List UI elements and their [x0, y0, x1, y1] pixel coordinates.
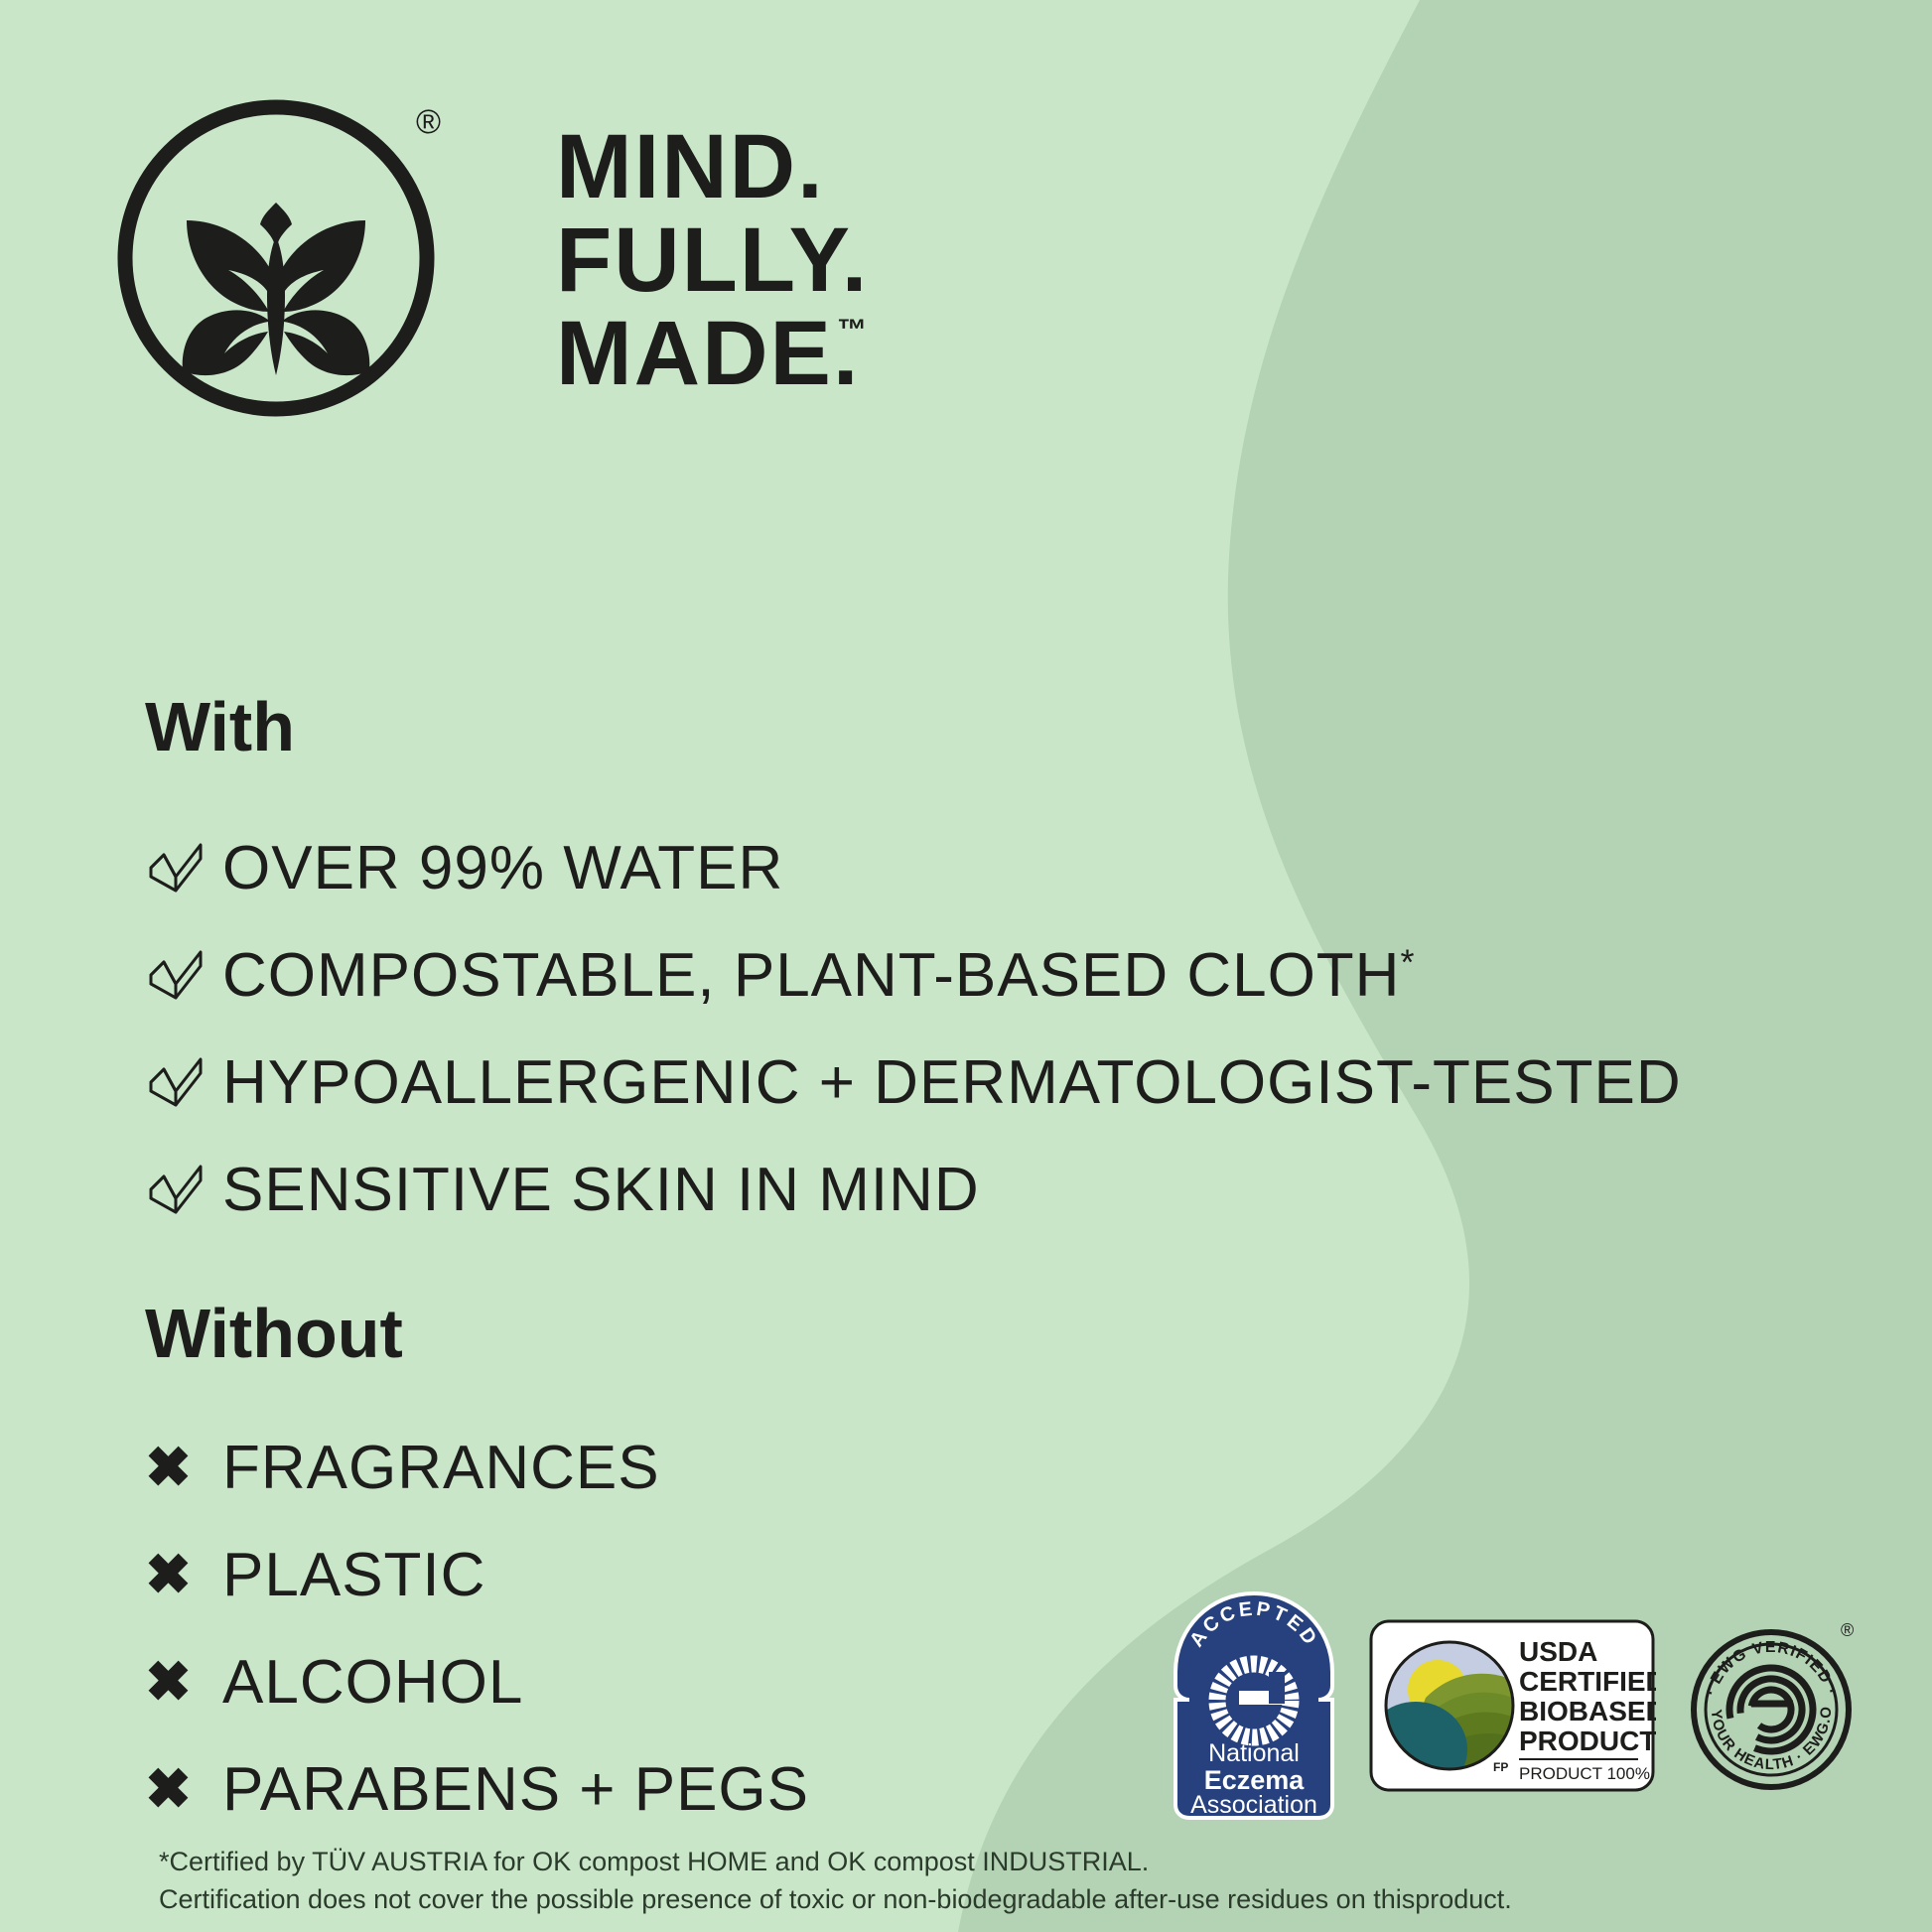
claim-text: PARABENS + PEGS — [222, 1754, 809, 1825]
check-mark-icon — [145, 1051, 222, 1113]
claim-text: COMPOSTABLE, PLANT-BASED CLOTH* — [222, 940, 1415, 1011]
claim-text: FRAGRANCES — [222, 1433, 660, 1503]
list-item: ✖ ALCOHOL — [145, 1628, 809, 1735]
without-section-heading: Without — [145, 1294, 403, 1373]
wordmark-line-2: FULLY. — [556, 214, 869, 308]
x-mark-glyph: ✖ — [145, 1654, 192, 1710]
list-item: HYPOALLERGENIC + DERMATOLOGIST-TESTED — [145, 1029, 1682, 1136]
butterfly-in-circle-logo: ® — [111, 85, 457, 431]
list-item: COMPOSTABLE, PLANT-BASED CLOTH* — [145, 921, 1682, 1029]
certification-badge-strip: ACCEPTED National Eczema Association — [1170, 1590, 1861, 1821]
svg-text:CERTIFIED: CERTIFIED — [1519, 1666, 1656, 1697]
with-claims-list: OVER 99% WATER COMPOSTABLE, PLANT-BASED … — [145, 814, 1682, 1243]
list-item: ✖ FRAGRANCES — [145, 1414, 809, 1521]
footnote-marker: * — [1400, 941, 1415, 982]
svg-text:National: National — [1208, 1739, 1300, 1767]
x-mark-glyph: ✖ — [145, 1440, 192, 1495]
svg-text:Association: Association — [1190, 1791, 1317, 1819]
ewg-verified-badge: · EWG VERIFIED · FOR YOUR HEALTH · EWG.O… — [1686, 1618, 1861, 1793]
svg-text:BIOBASED: BIOBASED — [1519, 1696, 1656, 1726]
trademark-icon: ™ — [837, 316, 867, 345]
footnote-line-1: *Certified by TÜV AUSTRIA for OK compost… — [159, 1843, 1767, 1880]
x-mark-glyph: ✖ — [145, 1547, 192, 1602]
wordmark: MIND. FULLY. MADE. ™ — [556, 121, 869, 400]
list-item: ✖ PLASTIC — [145, 1521, 809, 1628]
footnote-line-2: Certification does not cover the possibl… — [159, 1880, 1767, 1918]
wordmark-line-3: MADE. — [556, 308, 869, 401]
marketing-graphic-canvas: ® MIND. FULLY. MADE. ™ With OVER 99% WAT… — [0, 0, 1932, 1932]
claim-text: ALCOHOL — [222, 1647, 523, 1718]
list-item: SENSITIVE SKIN IN MIND — [145, 1136, 1682, 1243]
svg-text:®: ® — [1841, 1620, 1854, 1640]
without-claims-list: ✖ FRAGRANCES ✖ PLASTIC ✖ ALCOHOL ✖ PARAB… — [145, 1414, 809, 1843]
usda-certified-biobased-product-badge: FP USDA CERTIFIED BIOBASED PRODUCT PRODU… — [1368, 1618, 1656, 1793]
x-mark-icon: ✖ — [145, 1761, 222, 1817]
svg-text:FP: FP — [1493, 1760, 1508, 1774]
check-mark-icon — [145, 944, 222, 1006]
claim-text: PLASTIC — [222, 1540, 485, 1610]
wordmark-line-1: MIND. — [556, 121, 869, 214]
svg-text:PRODUCT 100%: PRODUCT 100% — [1519, 1764, 1650, 1783]
check-mark-icon — [145, 837, 222, 898]
list-item: OVER 99% WATER — [145, 814, 1682, 921]
x-mark-icon: ✖ — [145, 1654, 222, 1710]
footnote-block: *Certified by TÜV AUSTRIA for OK compost… — [159, 1843, 1767, 1919]
list-item: ✖ PARABENS + PEGS — [145, 1735, 809, 1843]
registered-trademark-icon: ® — [416, 105, 441, 139]
x-mark-icon: ✖ — [145, 1547, 222, 1602]
claim-text: SENSITIVE SKIN IN MIND — [222, 1155, 980, 1225]
national-eczema-association-badge: ACCEPTED National Eczema Association — [1170, 1590, 1338, 1821]
with-section-heading: With — [145, 687, 295, 766]
check-mark-icon — [145, 1159, 222, 1220]
claim-text: HYPOALLERGENIC + DERMATOLOGIST-TESTED — [222, 1047, 1682, 1118]
svg-text:USDA: USDA — [1519, 1636, 1597, 1667]
x-mark-icon: ✖ — [145, 1440, 222, 1495]
claim-text: OVER 99% WATER — [222, 833, 783, 903]
brand-logo-lockup: ® MIND. FULLY. MADE. ™ — [111, 85, 869, 431]
x-mark-glyph: ✖ — [145, 1761, 192, 1817]
svg-text:PRODUCT: PRODUCT — [1519, 1725, 1656, 1756]
